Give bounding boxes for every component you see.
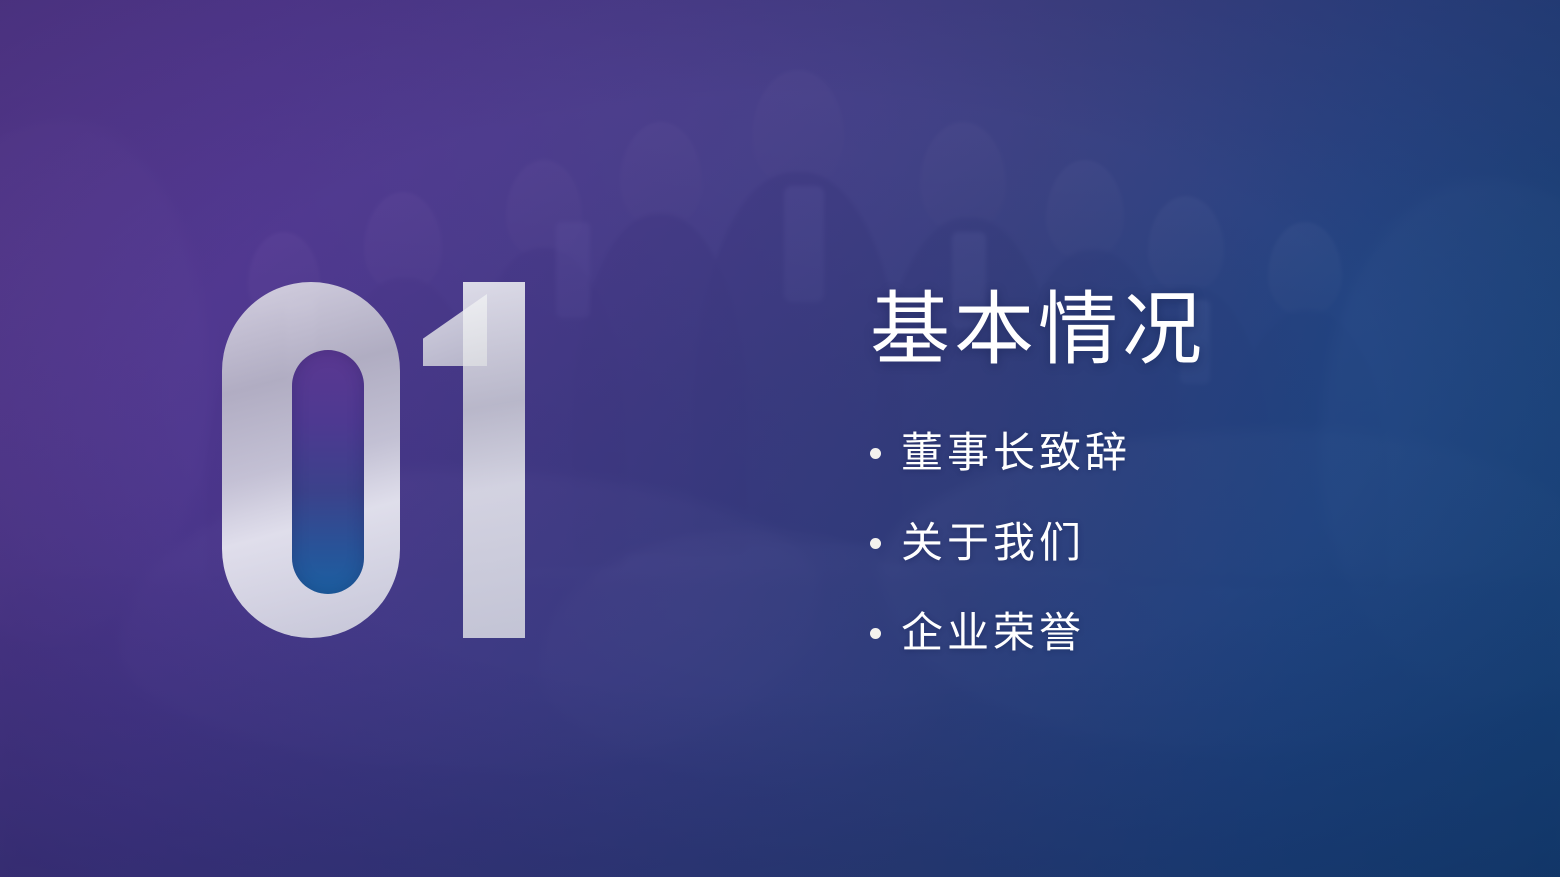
numeral-one-glyph bbox=[423, 282, 525, 638]
presentation-slide: 01 基本情况 董事长致辞 关于我们 企业荣誉 bbox=[0, 0, 1560, 877]
bullet-dot-icon bbox=[870, 448, 881, 459]
agenda-item-label: 企业荣誉 bbox=[901, 612, 1085, 654]
bullet-dot-icon bbox=[870, 628, 881, 639]
agenda-item-2[interactable]: 关于我们 bbox=[870, 498, 1510, 588]
slide-title: 基本情况 bbox=[870, 288, 1510, 372]
agenda-item-label: 董事长致辞 bbox=[901, 432, 1131, 474]
agenda-list: 董事长致辞 关于我们 企业荣誉 bbox=[870, 408, 1510, 678]
numeral-zero-glyph bbox=[222, 282, 400, 638]
bullet-dot-icon bbox=[870, 538, 881, 549]
agenda-item-3[interactable]: 企业荣誉 bbox=[870, 588, 1510, 678]
agenda-item-label: 关于我们 bbox=[901, 522, 1085, 564]
section-number-01: 01 bbox=[205, 270, 545, 650]
agenda-item-1[interactable]: 董事长致辞 bbox=[870, 408, 1510, 498]
slide-text-block: 基本情况 董事长致辞 关于我们 企业荣誉 bbox=[870, 288, 1510, 678]
numeral-one-stem bbox=[463, 282, 525, 638]
numeral-zero-counter bbox=[292, 350, 364, 594]
